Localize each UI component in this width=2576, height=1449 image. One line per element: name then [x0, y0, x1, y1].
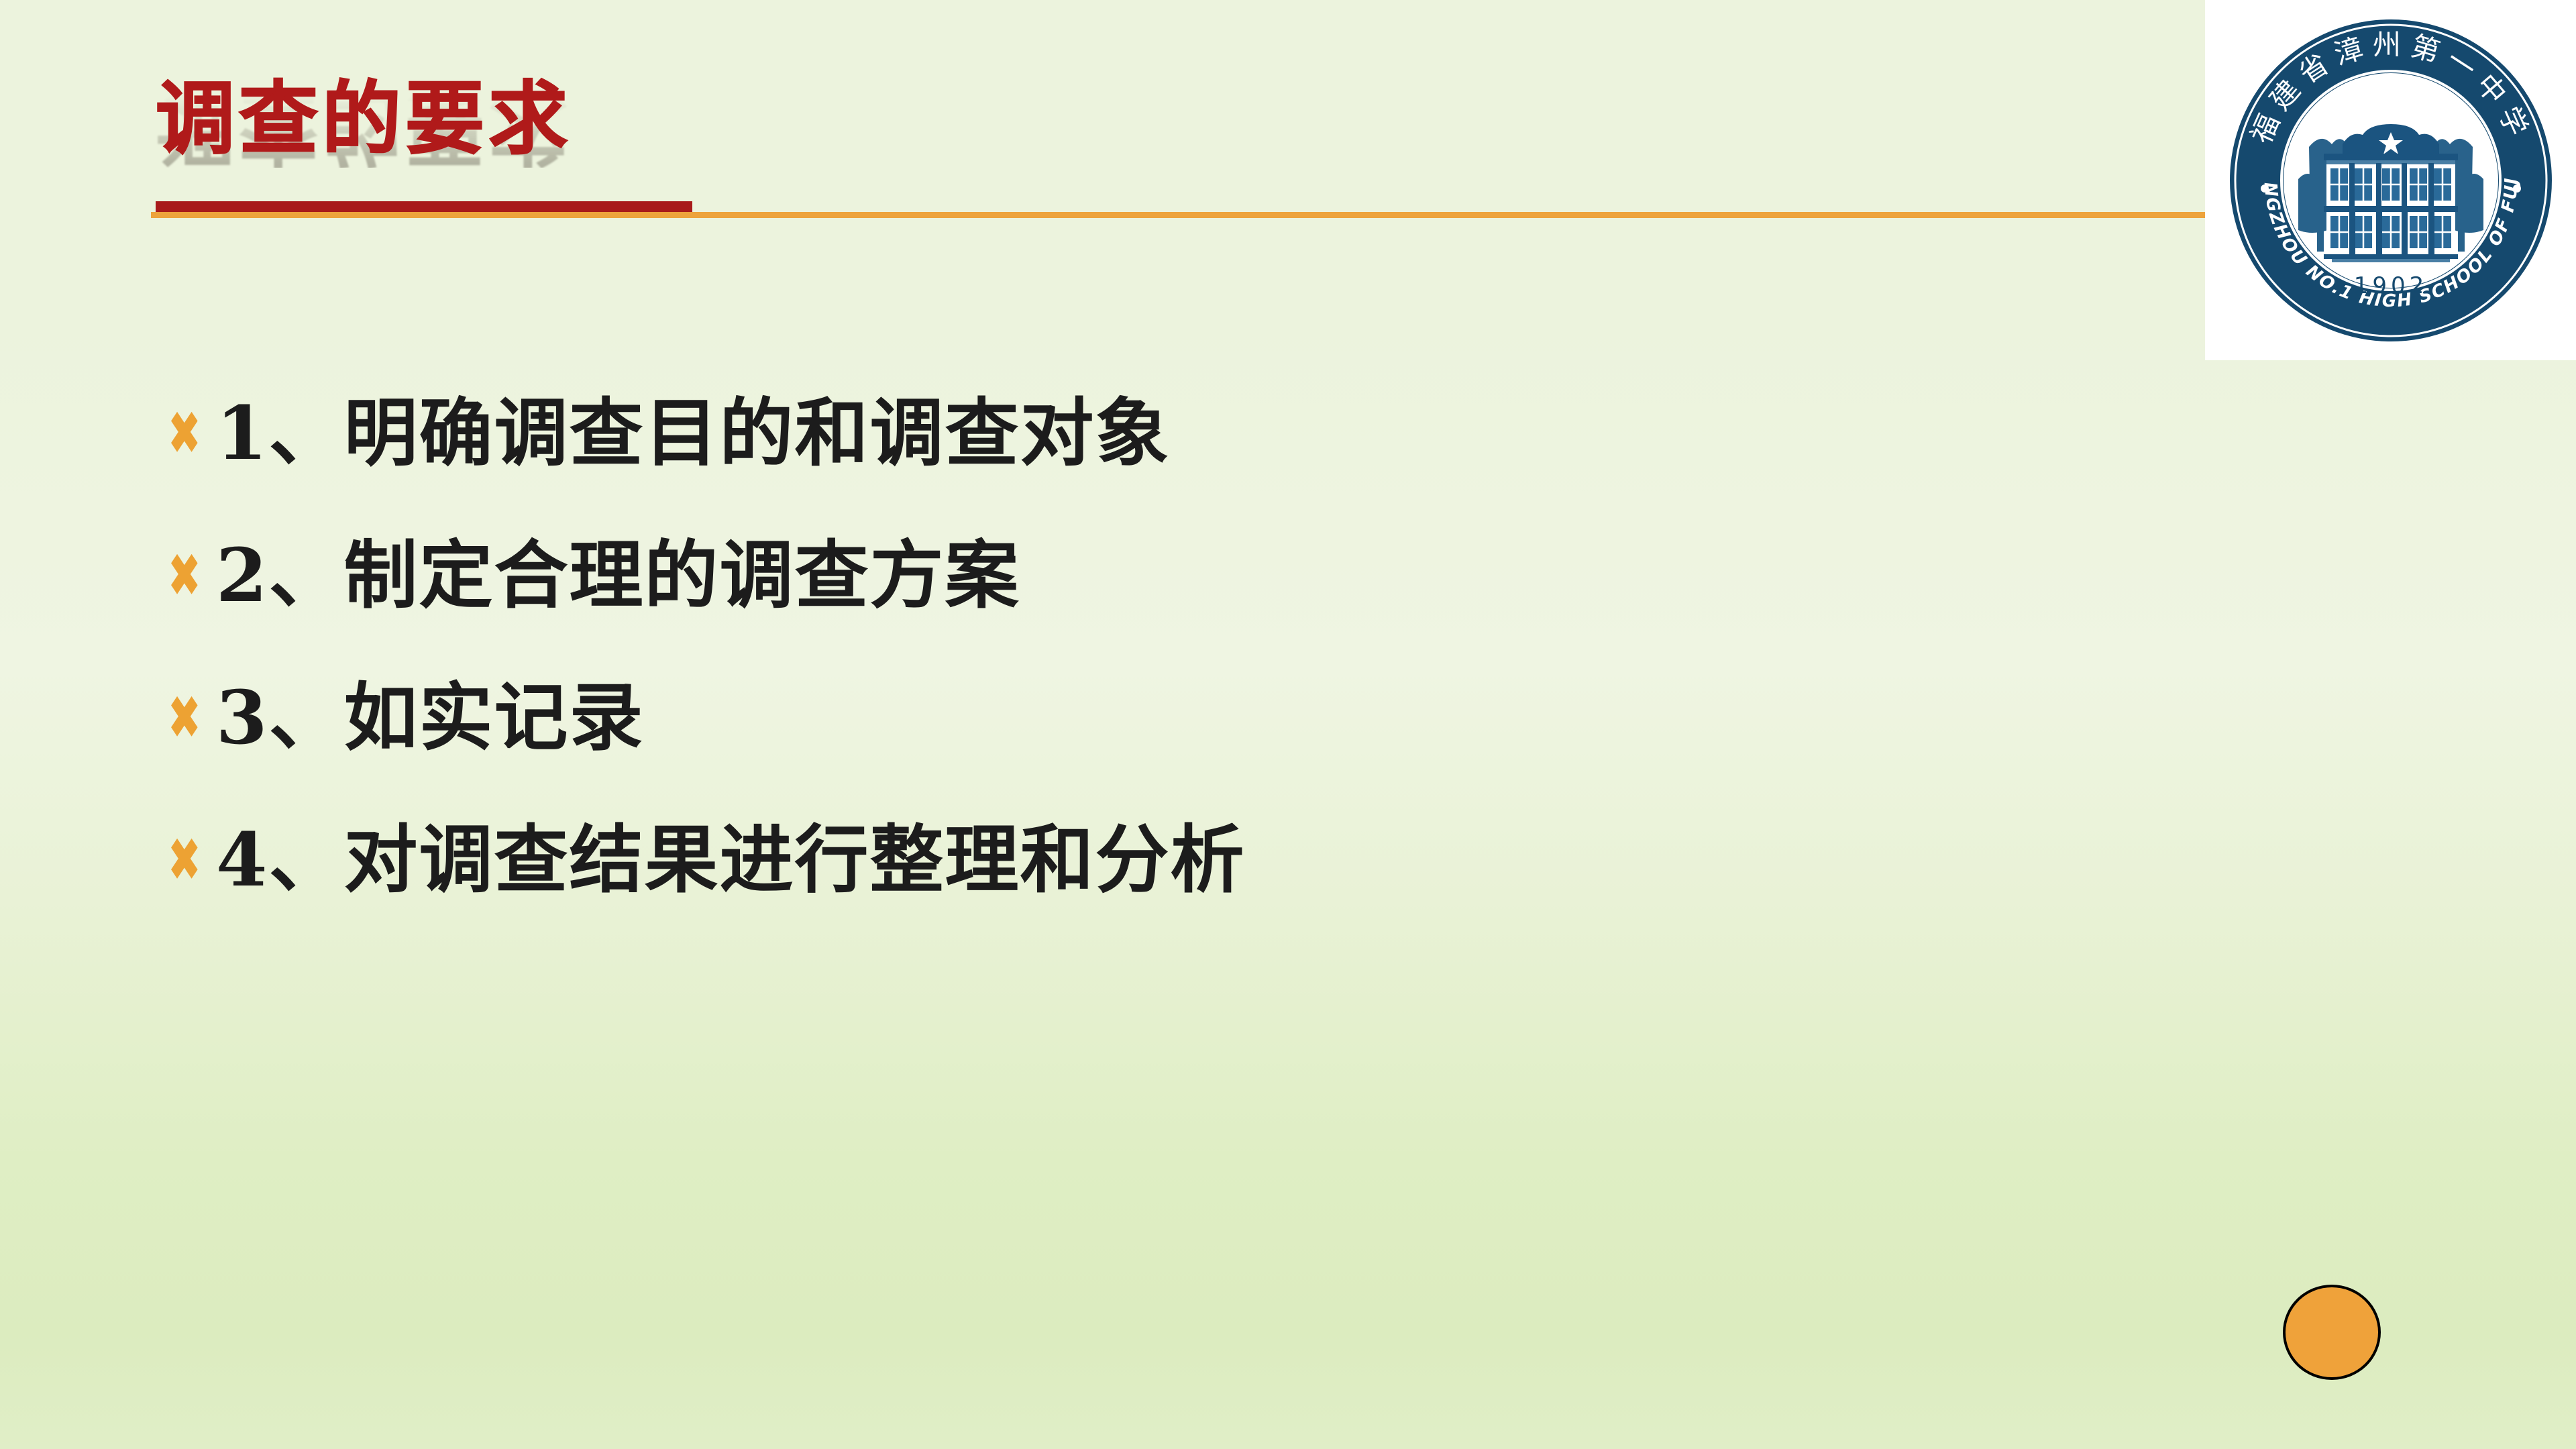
emblem-year-label: 1902	[2353, 272, 2428, 299]
cross-bullet-icon: ✖	[168, 545, 202, 606]
list-item-label: 3、如实记录	[216, 681, 645, 755]
cross-bullet-icon: ✖	[168, 403, 202, 464]
school-emblem-icon: 福建省漳州第一中学 ZHANGZHOU NO.1 HIGH SCHOOL OF …	[2223, 13, 2559, 348]
list-item-label: 2、制定合理的调查方案	[216, 539, 1020, 612]
list-item: ✖ 1、明确调查目的和调查对象	[168, 362, 2113, 504]
page-title: 调查的要求	[156, 79, 572, 158]
cross-bullet-icon: ✖	[168, 688, 202, 748]
list-item: ✖ 3、如实记录	[168, 647, 2113, 789]
list-item: ✖ 4、对调查结果进行整理和分析	[168, 789, 2113, 931]
list-item: ✖ 2、制定合理的调查方案	[168, 504, 2113, 647]
emblem-building-icon	[2324, 124, 2458, 262]
list-item-label: 1、明确调查目的和调查对象	[216, 396, 1171, 470]
title-underline-bar	[156, 201, 692, 212]
list-item-label: 4、对调查结果进行整理和分析	[216, 823, 1246, 897]
bullet-list: ✖ 1、明确调查目的和调查对象 ✖ 2、制定合理的调查方案 ✖ 3、如实记录 ✖…	[168, 362, 2113, 931]
slide-title-area: 调查的要求 调查的要求	[0, 0, 2576, 282]
cross-bullet-icon: ✖	[168, 830, 202, 890]
title-accent-rule	[151, 212, 2205, 218]
decorative-orange-circle	[2283, 1285, 2381, 1380]
school-logo: 福建省漳州第一中学 ZHANGZHOU NO.1 HIGH SCHOOL OF …	[2205, 0, 2576, 360]
